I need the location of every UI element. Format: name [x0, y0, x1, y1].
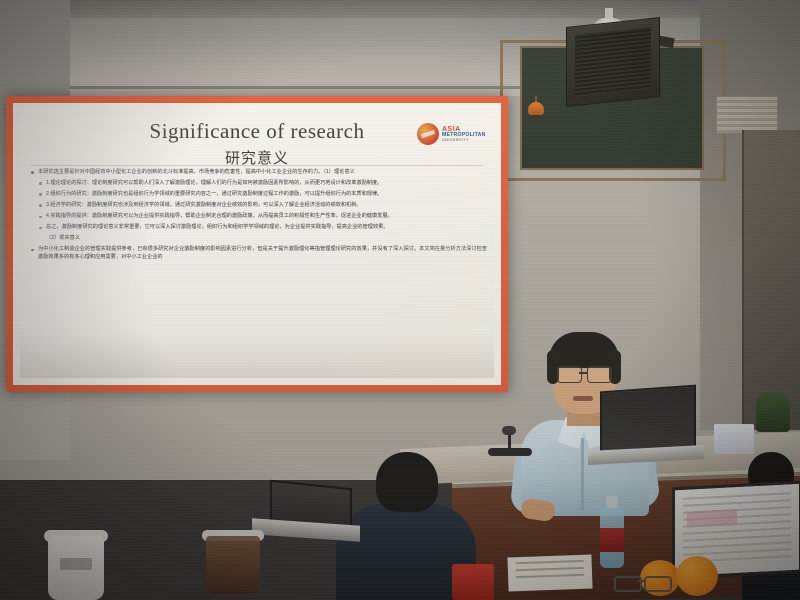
water-bottle [600, 494, 624, 568]
red-package [452, 564, 494, 600]
screen-border [6, 96, 508, 392]
paper-sheet [507, 555, 592, 592]
iced-drink-cup [206, 536, 260, 594]
desk-plant [756, 392, 790, 432]
person-head [376, 452, 438, 512]
speaker-glasses-bridge [579, 372, 588, 374]
projector-screen: ASIA METROPOLITAN UNIVERSITY Significanc… [6, 96, 508, 392]
wall-speaker [566, 17, 660, 107]
photo-scene: ASIA METROPOLITAN UNIVERSITY Significanc… [0, 0, 800, 600]
eyeglasses-icon [614, 576, 672, 590]
speaker-glasses-left-lens [557, 366, 582, 383]
alarm-bell-icon [528, 96, 544, 118]
white-cup [48, 536, 104, 600]
cup-logo [60, 558, 92, 570]
orange-fruit-2 [676, 556, 718, 596]
speaker-shirt-placket [581, 438, 584, 510]
speaker-glasses-right-lens [587, 366, 612, 383]
tissue-box [714, 424, 754, 454]
wall-vent [716, 96, 778, 134]
door-frame [742, 130, 800, 430]
ceiling-band [0, 0, 800, 18]
desk-microphone [488, 430, 532, 456]
speaker-mouth [573, 396, 593, 401]
